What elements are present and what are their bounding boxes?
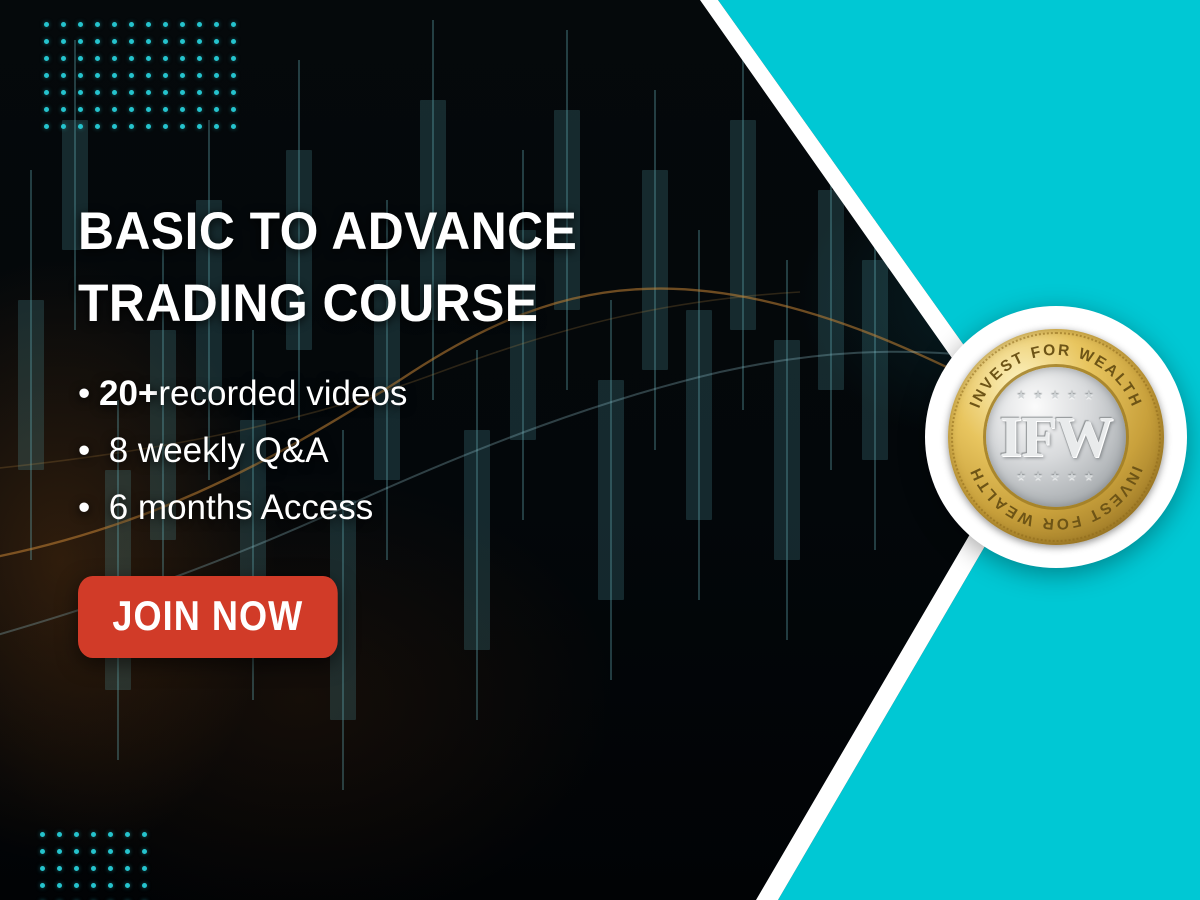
- decor-dot: [163, 73, 168, 78]
- decor-dot: [231, 39, 236, 44]
- decor-dot: [57, 883, 62, 888]
- decor-dot: [95, 90, 100, 95]
- decor-dot: [214, 124, 219, 129]
- decor-dot: [129, 90, 134, 95]
- decor-dot: [40, 883, 45, 888]
- decor-dot: [112, 124, 117, 129]
- decor-dot: [78, 73, 83, 78]
- decor-dot: [129, 107, 134, 112]
- decor-dot: [112, 22, 117, 27]
- decor-dot: [197, 22, 202, 27]
- decor-dot: [91, 866, 96, 871]
- decor-dot: [95, 56, 100, 61]
- decor-dot: [197, 73, 202, 78]
- decor-dot: [142, 832, 147, 837]
- list-item-emphasis: 20+: [99, 366, 158, 423]
- decor-dot: [231, 124, 236, 129]
- decor-dot: [108, 832, 113, 837]
- decor-dot: [61, 90, 66, 95]
- decor-dot: [180, 107, 185, 112]
- decor-dot: [129, 73, 134, 78]
- feature-list: •20+recorded videos• 8 weekly Q&A• 6 mon…: [78, 366, 718, 536]
- decor-dot: [61, 22, 66, 27]
- promo-banner: BASIC TO ADVANCE TRADING COURSE •20+reco…: [0, 0, 1200, 900]
- decor-dot: [163, 107, 168, 112]
- decor-dot: [214, 39, 219, 44]
- decor-dot: [61, 107, 66, 112]
- decor-dot: [231, 22, 236, 27]
- coin-icon: INVEST FOR WEALTH INVEST FOR WEALTH ★ ★ …: [948, 329, 1164, 545]
- decor-dot: [74, 866, 79, 871]
- decor-dot: [61, 73, 66, 78]
- decor-dot: [91, 832, 96, 837]
- decor-dot: [125, 849, 130, 854]
- decor-dot: [44, 124, 49, 129]
- decor-dot: [57, 866, 62, 871]
- decor-dot: [163, 22, 168, 27]
- decor-dot: [61, 56, 66, 61]
- decor-dot: [61, 39, 66, 44]
- decor-dot: [78, 22, 83, 27]
- decor-dot: [129, 39, 134, 44]
- decor-dot: [146, 56, 151, 61]
- headline-line-2: TRADING COURSE: [78, 268, 680, 340]
- decor-dot: [129, 124, 134, 129]
- decor-dot: [108, 849, 113, 854]
- decor-dot: [129, 56, 134, 61]
- decor-dot: [95, 22, 100, 27]
- decor-dot: [74, 849, 79, 854]
- bullet-marker-icon: •: [78, 433, 99, 468]
- decor-dot: [231, 90, 236, 95]
- list-item: • 8 weekly Q&A: [78, 423, 718, 480]
- headline-line-1: BASIC TO ADVANCE: [78, 196, 680, 268]
- decor-dot: [180, 56, 185, 61]
- decor-dot: [44, 39, 49, 44]
- decor-dot: [78, 39, 83, 44]
- decor-dot: [142, 883, 147, 888]
- list-item: •20+recorded videos: [78, 366, 718, 423]
- decor-dot: [74, 832, 79, 837]
- list-item: • 6 months Access: [78, 480, 718, 537]
- decor-dot: [95, 107, 100, 112]
- logo-badge: INVEST FOR WEALTH INVEST FOR WEALTH ★ ★ …: [925, 306, 1187, 568]
- decor-dot: [146, 107, 151, 112]
- decor-dot: [163, 39, 168, 44]
- decor-dot: [40, 849, 45, 854]
- decor-dot: [78, 56, 83, 61]
- decor-dot: [44, 56, 49, 61]
- bullet-marker-icon: •: [78, 376, 99, 411]
- decor-dot: [197, 107, 202, 112]
- decor-dot: [163, 124, 168, 129]
- decor-dot: [163, 90, 168, 95]
- decor-dot: [180, 90, 185, 95]
- decor-dot: [95, 73, 100, 78]
- decor-dot: [142, 849, 147, 854]
- bullet-marker-icon: •: [78, 490, 99, 525]
- decor-dot: [125, 832, 130, 837]
- decor-dot: [78, 124, 83, 129]
- decor-dot: [146, 73, 151, 78]
- join-now-button[interactable]: JOIN NOW: [78, 576, 338, 658]
- decor-dot: [40, 866, 45, 871]
- decor-dot: [44, 107, 49, 112]
- coin-center: ★ ★ ★ ★ ★ IFW ★ ★ ★ ★ ★: [986, 367, 1126, 507]
- decor-dot: [180, 22, 185, 27]
- coin-monogram: IFW: [1000, 408, 1113, 466]
- list-item-label: 8 weekly Q&A: [99, 423, 329, 480]
- decor-dot: [57, 832, 62, 837]
- page-title: BASIC TO ADVANCE TRADING COURSE: [78, 196, 680, 340]
- content-column: BASIC TO ADVANCE TRADING COURSE •20+reco…: [78, 196, 718, 658]
- decor-dot: [112, 107, 117, 112]
- decor-dot: [197, 90, 202, 95]
- decor-dot: [112, 90, 117, 95]
- list-item-label: recorded videos: [158, 366, 407, 423]
- decor-dot: [129, 22, 134, 27]
- coin-stars-top: ★ ★ ★ ★ ★: [1016, 391, 1096, 402]
- decor-dot: [78, 107, 83, 112]
- decor-dot: [108, 866, 113, 871]
- decor-dot: [231, 107, 236, 112]
- decor-dot: [74, 883, 79, 888]
- decor-dot: [146, 90, 151, 95]
- decor-dot: [214, 73, 219, 78]
- decor-dot: [44, 73, 49, 78]
- decor-dot: [146, 22, 151, 27]
- decor-dot: [163, 56, 168, 61]
- decor-dot: [214, 90, 219, 95]
- decor-dot: [95, 124, 100, 129]
- decor-dot: [197, 124, 202, 129]
- decor-dot: [95, 39, 100, 44]
- decor-dot: [214, 56, 219, 61]
- decor-dot: [112, 39, 117, 44]
- decor-dot: [44, 22, 49, 27]
- decor-dot: [108, 883, 113, 888]
- decor-dot: [231, 73, 236, 78]
- decor-dot: [142, 866, 147, 871]
- decor-dot: [57, 849, 62, 854]
- decor-dot: [125, 883, 130, 888]
- decor-dot: [112, 56, 117, 61]
- decor-dot: [214, 107, 219, 112]
- decor-dot: [91, 849, 96, 854]
- decor-dot: [112, 73, 117, 78]
- decor-dot: [197, 39, 202, 44]
- decor-dot: [78, 90, 83, 95]
- list-item-label: 6 months Access: [99, 480, 373, 537]
- decor-dot: [125, 866, 130, 871]
- decor-dot: [180, 39, 185, 44]
- decor-dot: [214, 22, 219, 27]
- decor-dot: [197, 56, 202, 61]
- coin-stars-bottom: ★ ★ ★ ★ ★: [1016, 472, 1096, 483]
- decor-dot: [91, 883, 96, 888]
- decor-dot: [40, 832, 45, 837]
- decor-dot: [180, 124, 185, 129]
- decor-dot: [231, 56, 236, 61]
- decor-dot: [180, 73, 185, 78]
- decor-dot: [61, 124, 66, 129]
- decor-dot: [44, 90, 49, 95]
- decor-dot: [146, 124, 151, 129]
- decor-dot: [146, 39, 151, 44]
